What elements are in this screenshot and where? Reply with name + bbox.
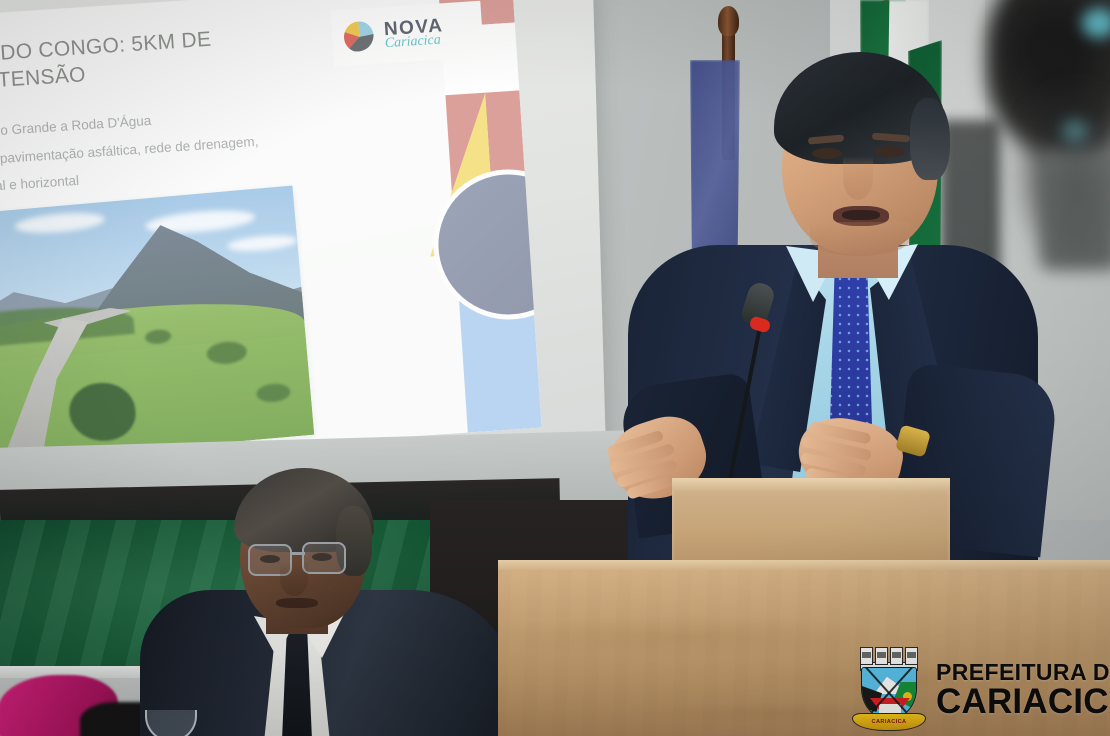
speaker-eye-right xyxy=(875,146,905,157)
seated-nose xyxy=(280,562,308,596)
wine-glass-bowl xyxy=(145,710,197,736)
crest-ribbon-text: CARIACICA xyxy=(872,719,907,725)
speaker-eye-left xyxy=(812,148,842,159)
podium-upper-edge xyxy=(672,478,950,490)
slide-decor-gray-circle xyxy=(429,165,542,325)
crown-tower xyxy=(875,647,888,665)
speaker-chin xyxy=(810,222,910,256)
seated-mouth xyxy=(276,598,318,608)
cariacica-coat-of-arms-icon: CARIACICA xyxy=(852,647,926,733)
nova-cariacica-logo: NOVA Cariacica xyxy=(331,1,484,67)
crest-shield xyxy=(861,667,917,719)
crest-mural-crown xyxy=(860,647,918,669)
crown-tower xyxy=(860,647,873,665)
seated-official xyxy=(150,470,530,736)
watermark-line-2: CARIACICA xyxy=(936,685,1110,719)
crest-saltire xyxy=(864,670,914,716)
speaker-mouth-interior xyxy=(842,210,880,220)
camera-highlight-icon xyxy=(1082,8,1110,38)
crown-tower xyxy=(890,647,903,665)
speaker-nose xyxy=(843,156,873,200)
podium-upper-panel xyxy=(672,478,950,566)
flag-pole-finial-left xyxy=(718,6,739,36)
slide-photo-road-landscape xyxy=(0,185,314,469)
logo-secondary-text: Cariacica xyxy=(384,33,444,51)
eyeglasses-lens-right-icon xyxy=(302,542,346,574)
prefeitura-watermark: CARIACICA PREFEITURA DE CARIACICA xyxy=(852,646,1104,734)
crest-ribbon: CARIACICA xyxy=(852,713,926,731)
seated-tie xyxy=(282,630,312,736)
photo-scene: NOVA AVENIDA DO CONGO: 5KM DE EXTENSÃO N… xyxy=(0,0,1110,736)
podium-front-top-edge xyxy=(498,560,1110,570)
wine-glass xyxy=(145,710,197,736)
slide-title: NOVA AVENIDA DO CONGO: 5KM DE EXTENSÃO xyxy=(0,24,248,107)
crown-tower xyxy=(905,647,918,665)
speaker-hair-side xyxy=(910,98,950,180)
presentation-slide: NOVA AVENIDA DO CONGO: 5KM DE EXTENSÃO N… xyxy=(0,0,542,471)
watermark-line-1: PREFEITURA DE xyxy=(936,661,1110,684)
projection-screen: NOVA AVENIDA DO CONGO: 5KM DE EXTENSÃO N… xyxy=(0,0,607,504)
eyeglasses-bridge-icon xyxy=(291,552,305,555)
nova-cariacica-logo-mark-icon xyxy=(339,17,379,57)
